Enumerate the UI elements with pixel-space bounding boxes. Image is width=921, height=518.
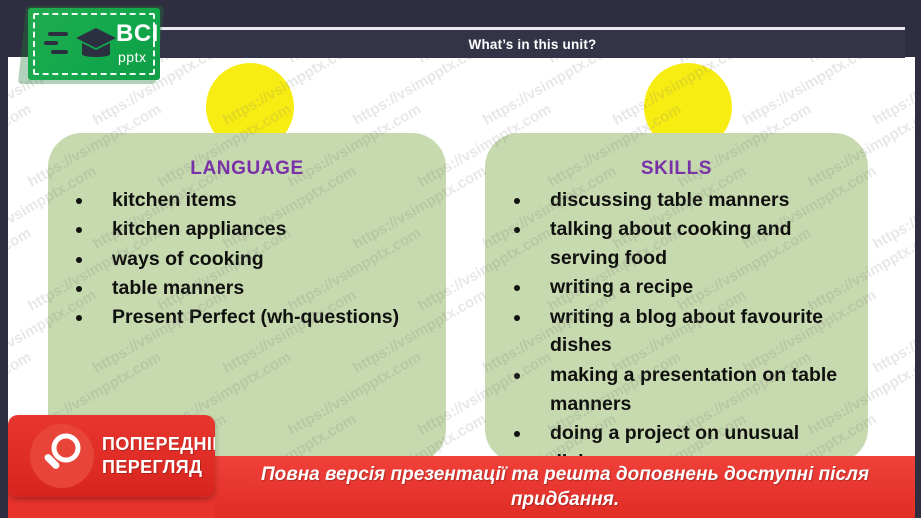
language-panel-title: LANGUAGE <box>48 158 446 180</box>
speed-lines-icon <box>44 32 76 58</box>
preview-badge[interactable]: ПОПЕРЕДНІЙ ПЕРЕГЛЯД <box>8 415 215 497</box>
skills-bullet-list: discussing table manners talking about c… <box>504 186 866 477</box>
notice-banner: Повна версія презентації та решта доповн… <box>215 456 915 518</box>
logo-extension-text: pptx <box>118 50 160 64</box>
logo-brand-text: BCIM <box>116 22 160 46</box>
list-item: kitchen items <box>66 186 438 215</box>
preview-badge-line1: ПОПЕРЕДНІЙ <box>102 433 215 456</box>
unit-header-bar: What’s in this unit? <box>160 30 905 58</box>
preview-badge-label: ПОПЕРЕДНІЙ ПЕРЕГЛЯД <box>102 433 215 479</box>
list-item: talking about cooking and serving food <box>504 215 866 273</box>
list-item: discussing table manners <box>504 186 866 215</box>
window-left-border <box>0 0 8 518</box>
graduation-cap-icon <box>74 24 118 64</box>
page-title: What’s in this unit? <box>469 37 597 52</box>
app-logo[interactable]: BCIM pptx <box>28 8 160 80</box>
list-item: Present Perfect (wh-questions) <box>66 303 438 332</box>
list-item: writing a recipe <box>504 273 866 302</box>
language-bullet-list: kitchen items kitchen appliances ways of… <box>66 186 438 332</box>
magnifier-icon <box>30 424 94 488</box>
list-item: making a presentation on table manners <box>504 361 866 419</box>
notice-banner-text: Повна версія презентації та решта доповн… <box>215 462 915 512</box>
list-item: kitchen appliances <box>66 215 438 244</box>
list-item: writing a blog about favourite dishes <box>504 303 866 361</box>
list-item: table manners <box>66 274 438 303</box>
slide-root: LANGUAGE SKILLS kitchen items kitchen ap… <box>0 0 921 518</box>
logo-wordmark: BCIM pptx <box>116 22 160 64</box>
preview-badge-line2: ПЕРЕГЛЯД <box>102 456 215 479</box>
skills-panel-title: SKILLS <box>485 158 868 180</box>
list-item: ways of cooking <box>66 245 438 274</box>
window-right-border <box>915 0 921 518</box>
